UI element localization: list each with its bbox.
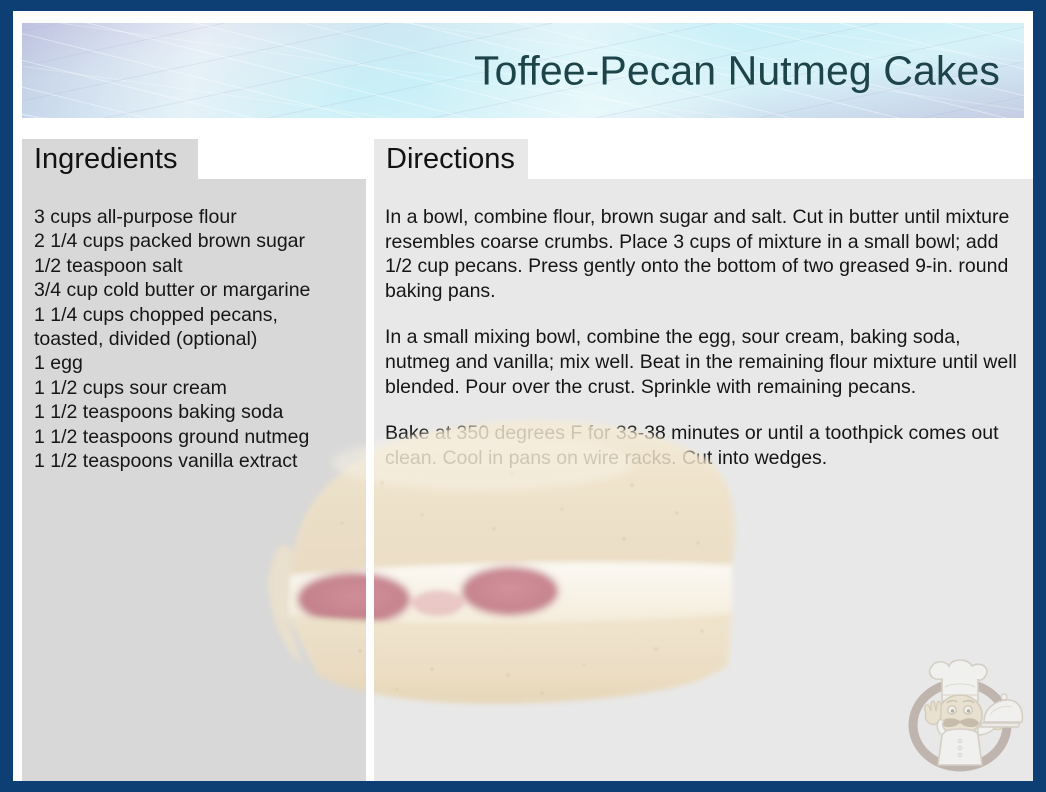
list-item: 3/4 cup cold butter or margarine [34,278,356,302]
list-item: 1 1/2 teaspoons vanilla extract [34,449,356,473]
ingredients-panel: 3 cups all-purpose flour 2 1/4 cups pack… [22,179,366,781]
list-item: 1 1/2 teaspoons baking soda [34,400,356,424]
list-item: 1 1/4 cups chopped pecans, [34,303,356,327]
page-title: Toffee-Pecan Nutmeg Cakes [474,49,1000,92]
title-banner: Toffee-Pecan Nutmeg Cakes [22,23,1024,118]
directions-panel: In a bowl, combine flour, brown sugar an… [374,179,1033,781]
direction-paragraph: In a small mixing bowl, combine the egg,… [385,325,1023,399]
list-item: 3 cups all-purpose flour [34,205,356,229]
list-item: 1 1/2 cups sour cream [34,376,356,400]
panel-divider [366,179,374,781]
list-item: toasted, divided (optional) [34,327,356,351]
ingredients-tab: Ingredients [22,139,198,179]
directions-tab: Directions [374,139,528,179]
recipe-card: Toffee-Pecan Nutmeg Cakes Ingredients 3 … [0,0,1046,792]
ingredients-heading: Ingredients [34,145,178,174]
direction-paragraph: In a bowl, combine flour, brown sugar an… [385,205,1023,303]
direction-paragraph: Bake at 350 degrees F for 33-38 minutes … [385,421,1023,470]
directions-heading: Directions [386,145,515,174]
list-item: 1 1/2 teaspoons ground nutmeg [34,425,356,449]
ingredients-list: 3 cups all-purpose flour 2 1/4 cups pack… [34,205,356,473]
list-item: 2 1/4 cups packed brown sugar [34,229,356,253]
card-sheet: Toffee-Pecan Nutmeg Cakes Ingredients 3 … [13,11,1033,781]
list-item: 1/2 teaspoon salt [34,254,356,278]
list-item: 1 egg [34,351,356,375]
